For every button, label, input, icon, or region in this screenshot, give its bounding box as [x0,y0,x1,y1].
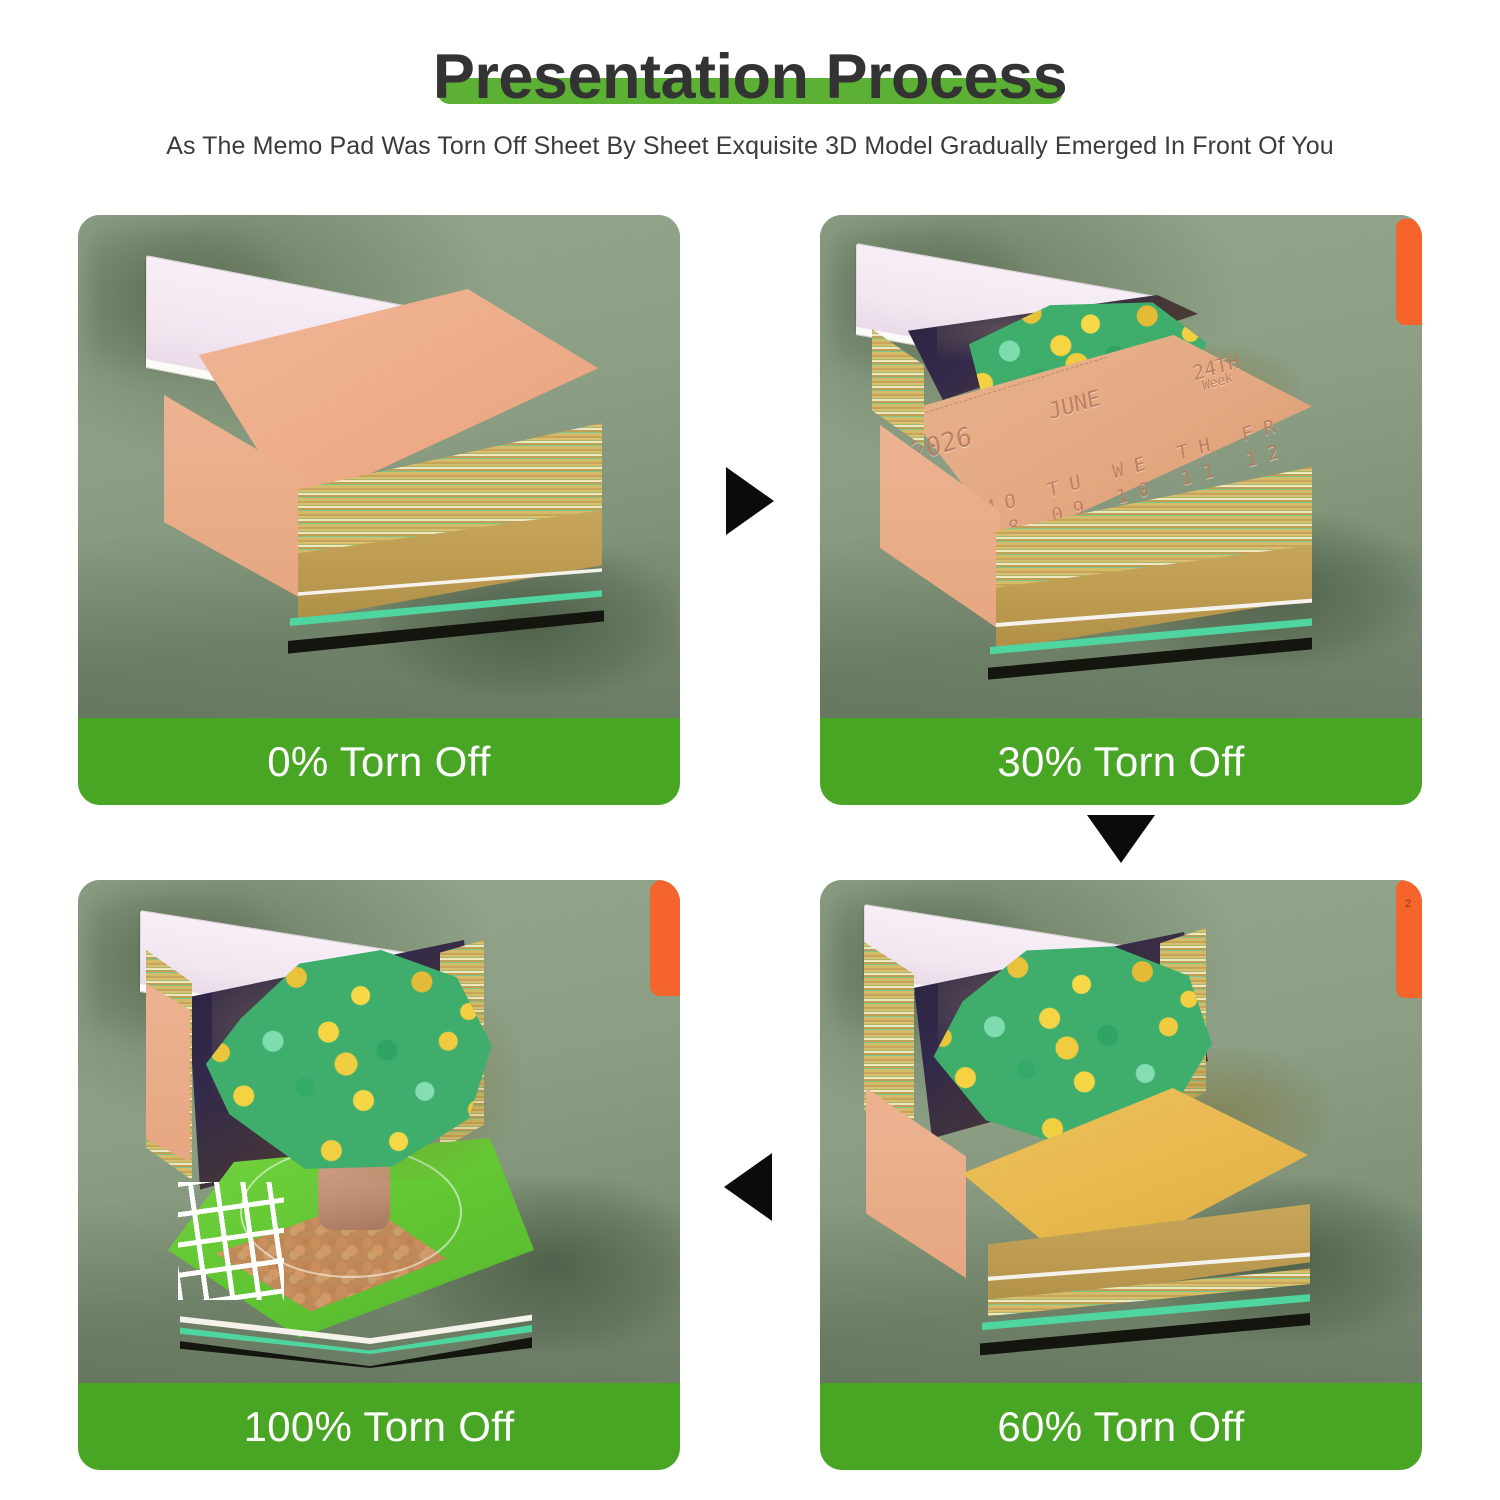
white-fence [178,1182,284,1300]
caption-label: 60% Torn Off [997,1403,1244,1451]
orange-sticky-tab[interactable]: 2 [1396,880,1422,998]
caption-bar-60-percent: 60% Torn Off [820,1383,1422,1470]
memo-pad-block-30: 2026 JUNE 24TH Week SU MO TU WE TH FR SA… [850,235,1350,685]
product-photo-60-percent: 2 [820,880,1422,1383]
page-header: Presentation Process As The Memo Pad Was… [0,0,1500,161]
product-photo-100-percent [78,880,680,1383]
product-photo-0-percent [78,215,680,718]
arrow-step60-to-step100 [724,1153,772,1221]
orange-tab-label: 2 [1396,896,1420,913]
page-subtitle: As The Memo Pad Was Torn Off Sheet By Sh… [0,132,1500,161]
title-wrap: Presentation Process [419,44,1081,110]
page-title: Presentation Process [433,44,1067,110]
product-photo-30-percent: 2026 JUNE 24TH Week SU MO TU WE TH FR SA… [820,215,1422,718]
orange-sticky-tab[interactable] [1396,219,1422,325]
memo-pad-block-60 [860,898,1360,1358]
step-card-60-percent[interactable]: 2 [820,880,1422,1470]
memo-pad-block-intact [140,255,620,675]
paper-diorama-complete [140,902,610,1362]
process-grid: 0% Torn Off 2026 JUNE [78,215,1422,1500]
step-card-0-percent[interactable]: 0% Torn Off [78,215,680,805]
orange-sticky-tab[interactable] [650,880,680,996]
caption-bar-0-percent: 0% Torn Off [78,718,680,805]
arrow-step0-to-step30 [726,467,774,535]
arrow-step30-to-step60 [1087,815,1155,863]
step-card-30-percent[interactable]: 2026 JUNE 24TH Week SU MO TU WE TH FR SA… [820,215,1422,805]
caption-bar-100-percent: 100% Torn Off [78,1383,680,1470]
caption-bar-30-percent: 30% Torn Off [820,718,1422,805]
caption-label: 0% Torn Off [267,738,491,786]
caption-label: 100% Torn Off [244,1403,515,1451]
step-card-100-percent[interactable]: 100% Torn Off [78,880,680,1470]
caption-label: 30% Torn Off [997,738,1244,786]
